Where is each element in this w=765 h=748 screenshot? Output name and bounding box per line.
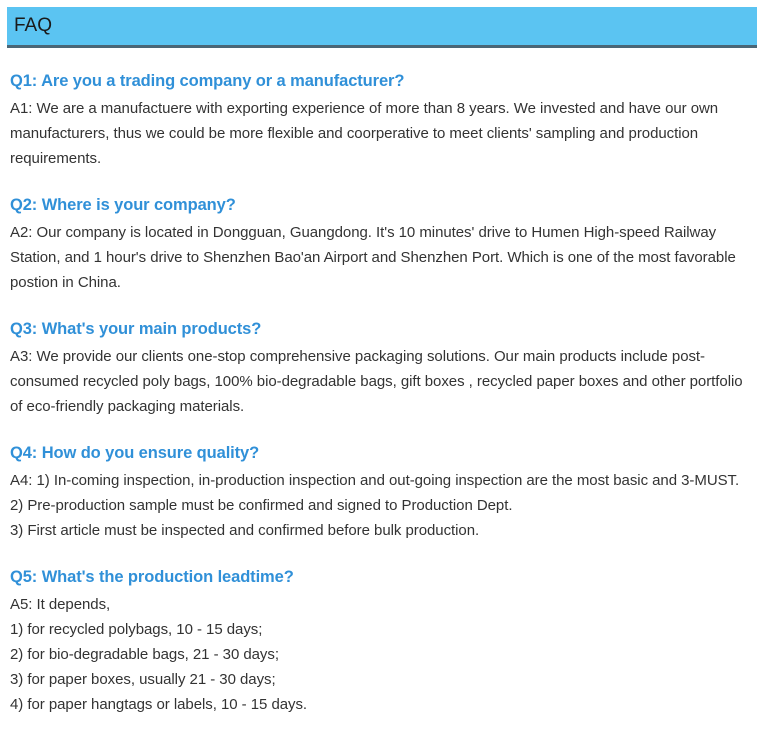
- faq-answer-line: A4: 1) In-coming inspection, in-producti…: [10, 468, 752, 493]
- faq-question: Q4: How do you ensure quality?: [10, 442, 755, 464]
- faq-item: Q2: Where is your company? A2: Our compa…: [10, 194, 755, 295]
- faq-answer-line: 3) for paper boxes, usually 21 - 30 days…: [10, 667, 752, 692]
- faq-list: Q1: Are you a trading company or a manuf…: [10, 70, 755, 717]
- faq-question: Q3: What's your main products?: [10, 318, 755, 340]
- faq-answer: A2: Our company is located in Dongguan, …: [10, 220, 752, 295]
- faq-item: Q3: What's your main products? A3: We pr…: [10, 318, 755, 419]
- faq-answer: A1: We are a manufactuere with exporting…: [10, 96, 752, 171]
- faq-page: FAQ Q1: Are you a trading company or a m…: [0, 0, 765, 748]
- faq-answer-line: A2: Our company is located in Dongguan, …: [10, 220, 752, 295]
- faq-question: Q5: What's the production leadtime?: [10, 566, 755, 588]
- faq-answer: A5: It depends, 1) for recycled polybags…: [10, 592, 752, 717]
- faq-answer-line: 2) Pre-production sample must be confirm…: [10, 493, 752, 518]
- faq-item: Q1: Are you a trading company or a manuf…: [10, 70, 755, 171]
- faq-answer-line: A3: We provide our clients one-stop comp…: [10, 344, 752, 419]
- faq-question: Q2: Where is your company?: [10, 194, 755, 216]
- faq-answer-line: 2) for bio-degradable bags, 21 - 30 days…: [10, 642, 752, 667]
- faq-answer-line: 3) First article must be inspected and c…: [10, 518, 752, 543]
- faq-item: Q5: What's the production leadtime? A5: …: [10, 566, 755, 717]
- faq-banner-title: FAQ: [7, 16, 52, 36]
- faq-answer-line: 1) for recycled polybags, 10 - 15 days;: [10, 617, 752, 642]
- faq-answer: A3: We provide our clients one-stop comp…: [10, 344, 752, 419]
- faq-question: Q1: Are you a trading company or a manuf…: [10, 70, 755, 92]
- faq-banner: FAQ: [7, 7, 757, 48]
- faq-answer-line: A5: It depends,: [10, 592, 752, 617]
- faq-answer-line: 4) for paper hangtags or labels, 10 - 15…: [10, 692, 752, 717]
- faq-answer: A4: 1) In-coming inspection, in-producti…: [10, 468, 752, 543]
- faq-item: Q4: How do you ensure quality? A4: 1) In…: [10, 442, 755, 543]
- faq-answer-line: A1: We are a manufactuere with exporting…: [10, 96, 752, 171]
